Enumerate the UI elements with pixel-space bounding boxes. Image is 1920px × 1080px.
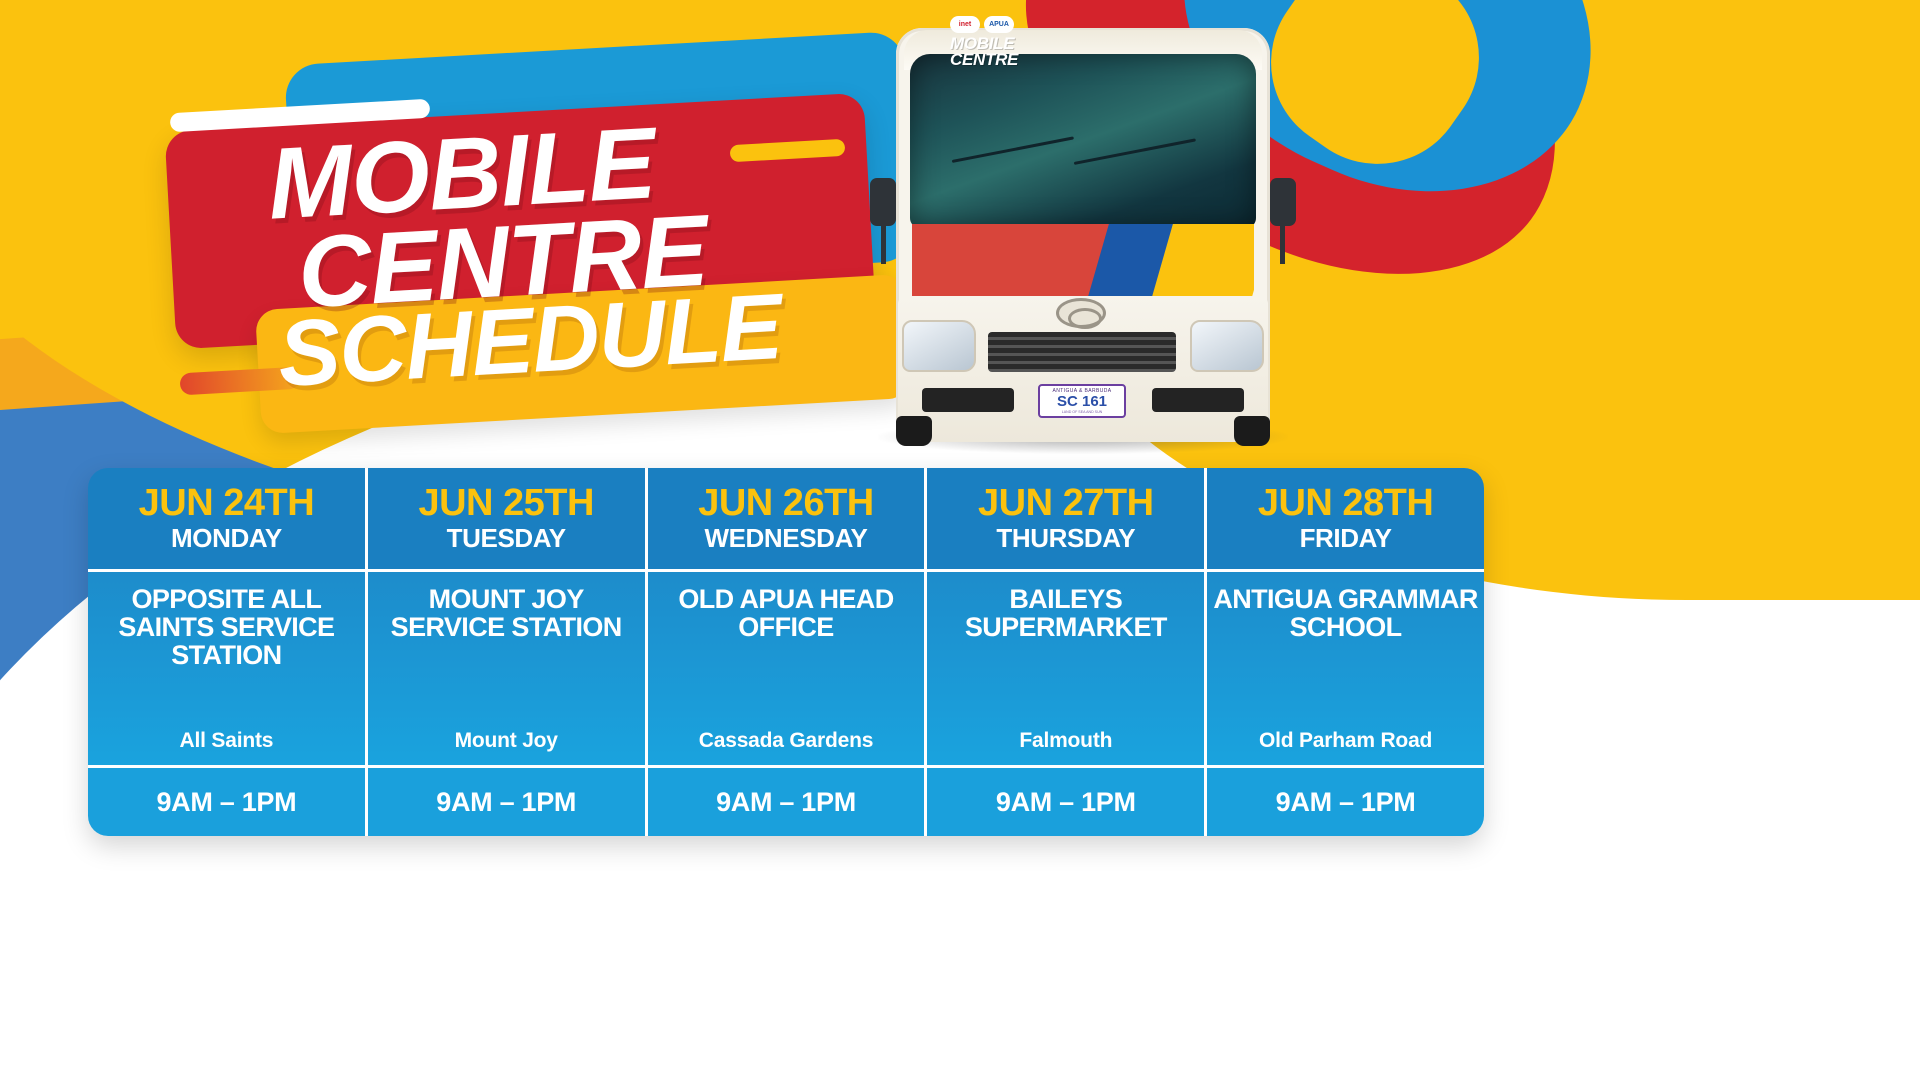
schedule-date-cell: JUN 28TH FRIDAY bbox=[1207, 468, 1484, 572]
schedule-location-name: MOUNT JOY SERVICE STATION bbox=[374, 586, 639, 642]
mirror-arm-right bbox=[1280, 224, 1285, 264]
bus-livery-decal bbox=[912, 224, 1254, 300]
mirror-arm-left bbox=[881, 224, 886, 264]
mobile-centre-bus-image: inet APUA MOBILE CENTRE ANTIGUA & BARBUD… bbox=[868, 10, 1298, 470]
schedule-time: 9AM – 1PM bbox=[996, 787, 1136, 818]
headlight-left bbox=[902, 320, 976, 372]
schedule-location-area: All Saints bbox=[180, 729, 274, 757]
inet-logo: inet bbox=[950, 16, 980, 33]
schedule-location-cell: BAILEYS SUPERMARKET Falmouth bbox=[927, 572, 1204, 768]
schedule-location-area: Falmouth bbox=[1019, 729, 1112, 757]
side-mirror-right bbox=[1270, 178, 1296, 226]
schedule-date: JUN 26TH bbox=[654, 484, 919, 522]
toyota-emblem-icon bbox=[1056, 298, 1106, 328]
decal-text-line-2: CENTRE bbox=[950, 52, 1018, 68]
schedule-location-name: OPPOSITE ALL SAINTS SERVICE STATION bbox=[94, 586, 359, 669]
schedule-location-cell: OPPOSITE ALL SAINTS SERVICE STATION All … bbox=[88, 572, 365, 768]
bus-grille bbox=[988, 332, 1176, 372]
schedule-date-cell: JUN 26TH WEDNESDAY bbox=[648, 468, 925, 572]
schedule-date: JUN 25TH bbox=[374, 484, 639, 522]
schedule-weekday: FRIDAY bbox=[1213, 524, 1478, 553]
schedule-date-cell: JUN 25TH TUESDAY bbox=[368, 468, 645, 572]
schedule-location-name: ANTIGUA GRAMMAR SCHOOL bbox=[1213, 586, 1478, 642]
wheel-left bbox=[896, 416, 932, 446]
schedule-location-area: Old Parham Road bbox=[1259, 729, 1432, 757]
schedule-weekday: WEDNESDAY bbox=[654, 524, 919, 553]
schedule-date: JUN 24TH bbox=[94, 484, 359, 522]
schedule-column-wednesday: JUN 26TH WEDNESDAY OLD APUA HEAD OFFICE … bbox=[648, 468, 928, 836]
schedule-time-cell: 9AM – 1PM bbox=[648, 768, 925, 836]
side-mirror-left bbox=[870, 178, 896, 226]
license-plate: ANTIGUA & BARBUDA SC 161 LAND OF SEA AND… bbox=[1038, 384, 1126, 418]
schedule-date-cell: JUN 27TH THURSDAY bbox=[927, 468, 1204, 572]
apua-logo: APUA bbox=[984, 16, 1014, 33]
schedule-time-cell: 9AM – 1PM bbox=[1207, 768, 1484, 836]
page-title-line-3: SCHEDULE bbox=[276, 284, 784, 398]
schedule-location-name: OLD APUA HEAD OFFICE bbox=[654, 586, 919, 642]
schedule-column-friday: JUN 28TH FRIDAY ANTIGUA GRAMMAR SCHOOL O… bbox=[1207, 468, 1484, 836]
schedule-time: 9AM – 1PM bbox=[436, 787, 576, 818]
bumper-vent-right bbox=[1152, 388, 1244, 412]
schedule-column-tuesday: JUN 25TH TUESDAY MOUNT JOY SERVICE STATI… bbox=[368, 468, 648, 836]
schedule-location-cell: ANTIGUA GRAMMAR SCHOOL Old Parham Road bbox=[1207, 572, 1484, 768]
schedule-time-cell: 9AM – 1PM bbox=[368, 768, 645, 836]
schedule-time-cell: 9AM – 1PM bbox=[88, 768, 365, 836]
schedule-location-area: Mount Joy bbox=[455, 729, 558, 757]
schedule-date-cell: JUN 24TH MONDAY bbox=[88, 468, 365, 572]
schedule-table: JUN 24TH MONDAY OPPOSITE ALL SAINTS SERV… bbox=[88, 468, 1484, 836]
schedule-date: JUN 28TH bbox=[1213, 484, 1478, 522]
bus-windshield bbox=[910, 54, 1256, 228]
schedule-time: 9AM – 1PM bbox=[156, 787, 296, 818]
schedule-location-cell: MOUNT JOY SERVICE STATION Mount Joy bbox=[368, 572, 645, 768]
license-plate-motto: LAND OF SEA AND SUN bbox=[1040, 410, 1124, 414]
bumper-vent-left bbox=[922, 388, 1014, 412]
schedule-location-area: Cassada Gardens bbox=[699, 729, 873, 757]
schedule-location-cell: OLD APUA HEAD OFFICE Cassada Gardens bbox=[648, 572, 925, 768]
headlight-right bbox=[1190, 320, 1264, 372]
license-plate-number: SC 161 bbox=[1040, 394, 1124, 410]
schedule-weekday: MONDAY bbox=[94, 524, 359, 553]
decal-text: MOBILE CENTRE bbox=[950, 36, 1018, 68]
schedule-column-thursday: JUN 27TH THURSDAY BAILEYS SUPERMARKET Fa… bbox=[927, 468, 1207, 836]
schedule-time: 9AM – 1PM bbox=[716, 787, 856, 818]
schedule-location-name: BAILEYS SUPERMARKET bbox=[933, 586, 1198, 642]
poster-title-lockup: MOBILE CENTRE SCHEDULE bbox=[150, 20, 910, 440]
schedule-time: 9AM – 1PM bbox=[1276, 787, 1416, 818]
schedule-weekday: TUESDAY bbox=[374, 524, 639, 553]
schedule-date: JUN 27TH bbox=[933, 484, 1198, 522]
schedule-time-cell: 9AM – 1PM bbox=[927, 768, 1204, 836]
wheel-right bbox=[1234, 416, 1270, 446]
schedule-weekday: THURSDAY bbox=[933, 524, 1198, 553]
schedule-column-monday: JUN 24TH MONDAY OPPOSITE ALL SAINTS SERV… bbox=[88, 468, 368, 836]
